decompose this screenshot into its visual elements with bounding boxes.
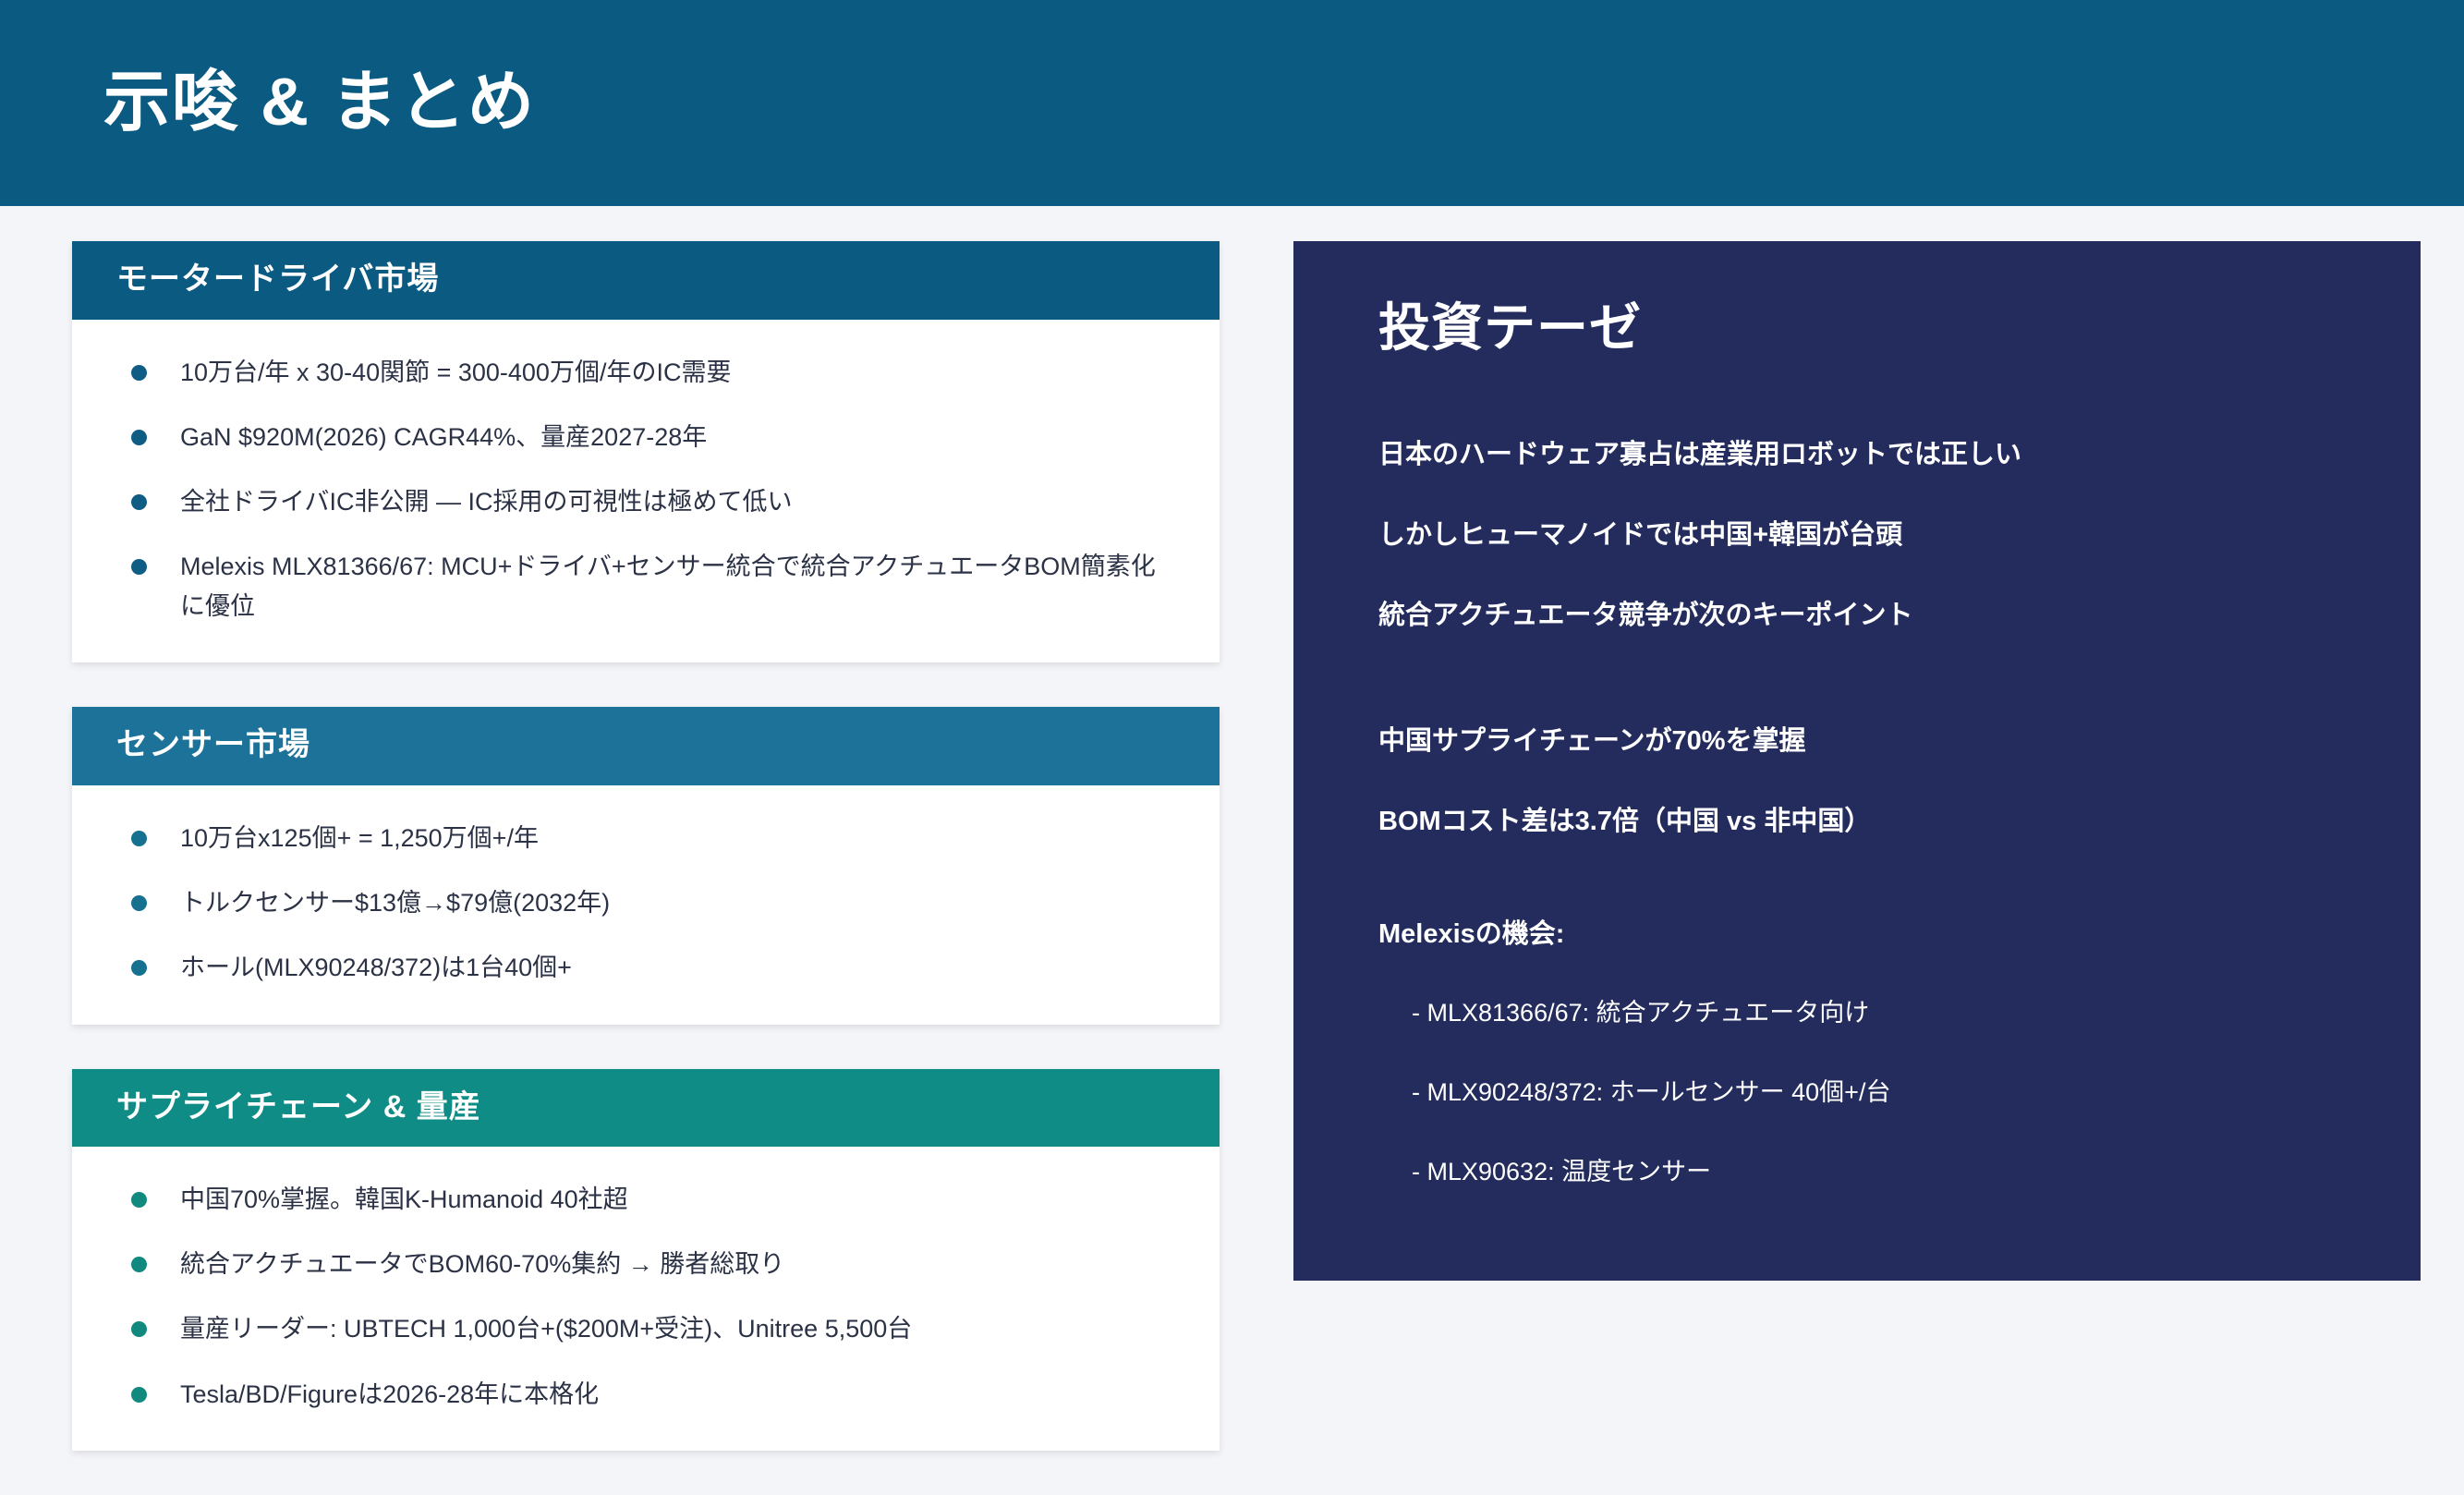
card-body: 中国70%掌握。韓国K-Humanoid 40社超 統合アクチュエータでBOM6… [72, 1147, 1220, 1451]
list-item: GaN $920M(2026) CAGR44%、量産2027-28年 [109, 405, 1183, 469]
list-item: 中国70%掌握。韓国K-Humanoid 40社超 [109, 1167, 1183, 1232]
list-item-label: Tesla/BD/Figureは2026-28年に本格化 [180, 1375, 1183, 1415]
opportunity-item: - MLX81366/67: 統合アクチュエータ向け [1378, 988, 2363, 1039]
list-item: Melexis MLX81366/67: MCU+ドライバ+センサー統合で統合ア… [109, 534, 1183, 638]
thesis-line: 日本のハードウェア寡占は産業用ロボットでは正しい [1378, 428, 2363, 482]
bullet-dot-icon [131, 1192, 147, 1208]
bullet-dot-icon [131, 559, 147, 575]
slide-header-bar: 示唆 & まとめ [0, 0, 2464, 206]
list-item-label: ホール(MLX90248/372)は1台40個+ [180, 948, 1183, 988]
list-item: 量産リーダー: UBTECH 1,000台+($200M+受注)、Unitree… [109, 1296, 1183, 1361]
card-sensor-market: センサー市場 10万台x125個+ = 1,250万個+/年 トルクセンサー$1… [72, 707, 1220, 1024]
opportunity-heading: Melexisの機会: [1378, 907, 2363, 962]
bullet-dot-icon [131, 1387, 147, 1403]
list-item: ホール(MLX90248/372)は1台40個+ [109, 935, 1183, 1000]
panel-divider-space [1378, 668, 2363, 714]
list-item-label: 10万台x125個+ = 1,250万個+/年 [180, 819, 1183, 858]
card-supply-chain-mass-production: サプライチェーン & 量産 中国70%掌握。韓国K-Humanoid 40社超 … [72, 1069, 1220, 1451]
bullet-dot-icon [131, 494, 147, 510]
bullet-dot-icon [131, 1257, 147, 1272]
opportunity-item: - MLX90632: 温度センサー [1378, 1147, 2363, 1198]
thesis-line: BOMコスト差は3.7倍（中国 vs 非中国） [1378, 795, 2363, 849]
opportunity-item: - MLX90248/372: ホールセンサー 40個+/台 [1378, 1067, 2363, 1119]
thesis-line: 統合アクチュエータ競争が次のキーポイント [1378, 589, 2363, 643]
panel-title: 投資テーゼ [1378, 298, 2363, 358]
list-item-label: GaN $920M(2026) CAGR44%、量産2027-28年 [180, 418, 1183, 457]
list-item-label: 10万台/年 x 30-40関節 = 300-400万個/年のIC需要 [180, 353, 1183, 393]
panel-divider-space [1378, 874, 2363, 907]
list-item-label: 統合アクチュエータでBOM60-70%集約 → 勝者総取り [180, 1245, 1183, 1284]
list-item-label: 中国70%掌握。韓国K-Humanoid 40社超 [180, 1180, 1183, 1220]
page-title: 示唆 & まとめ [103, 67, 536, 140]
card-header: モータードライバ市場 [72, 241, 1220, 320]
thesis-line: しかしヒューマノイドでは中国+韓国が台頭 [1378, 508, 2363, 563]
list-item-label: 全社ドライバIC非公開 — IC採用の可視性は極めて低い [180, 482, 1183, 522]
card-body: 10万台x125個+ = 1,250万個+/年 トルクセンサー$13億→$79億… [72, 785, 1220, 1025]
bullet-dot-icon [131, 1321, 147, 1337]
slide-body: モータードライバ市場 10万台/年 x 30-40関節 = 300-400万個/… [0, 206, 2464, 1386]
left-column: モータードライバ市場 10万台/年 x 30-40関節 = 300-400万個/… [72, 241, 1220, 1495]
investment-thesis-panel: 投資テーゼ 日本のハードウェア寡占は産業用ロボットでは正しい しかしヒューマノイ… [1293, 241, 2421, 1281]
list-item: 全社ドライバIC非公開 — IC採用の可視性は極めて低い [109, 469, 1183, 534]
bullet-dot-icon [131, 895, 147, 911]
list-item: 10万台/年 x 30-40関節 = 300-400万個/年のIC需要 [109, 340, 1183, 405]
card-header: サプライチェーン & 量産 [72, 1069, 1220, 1148]
card-body: 10万台/年 x 30-40関節 = 300-400万個/年のIC需要 GaN … [72, 320, 1220, 663]
list-item: Tesla/BD/Figureは2026-28年に本格化 [109, 1362, 1183, 1427]
list-item: 10万台x125個+ = 1,250万個+/年 [109, 806, 1183, 870]
list-item-label: トルクセンサー$13億→$79億(2032年) [180, 883, 1183, 923]
bullet-dot-icon [131, 960, 147, 976]
card-motor-driver-market: モータードライバ市場 10万台/年 x 30-40関節 = 300-400万個/… [72, 241, 1220, 662]
bullet-dot-icon [131, 365, 147, 381]
list-item: 統合アクチュエータでBOM60-70%集約 → 勝者総取り [109, 1232, 1183, 1296]
card-header: センサー市場 [72, 707, 1220, 785]
list-item-label: Melexis MLX81366/67: MCU+ドライバ+センサー統合で統合ア… [180, 547, 1183, 626]
list-item-label: 量産リーダー: UBTECH 1,000台+($200M+受注)、Unitree… [180, 1309, 1183, 1349]
bullet-dot-icon [131, 430, 147, 445]
list-item: トルクセンサー$13億→$79億(2032年) [109, 870, 1183, 935]
bullet-dot-icon [131, 831, 147, 846]
thesis-line: 中国サプライチェーンが70%を掌握 [1378, 714, 2363, 769]
